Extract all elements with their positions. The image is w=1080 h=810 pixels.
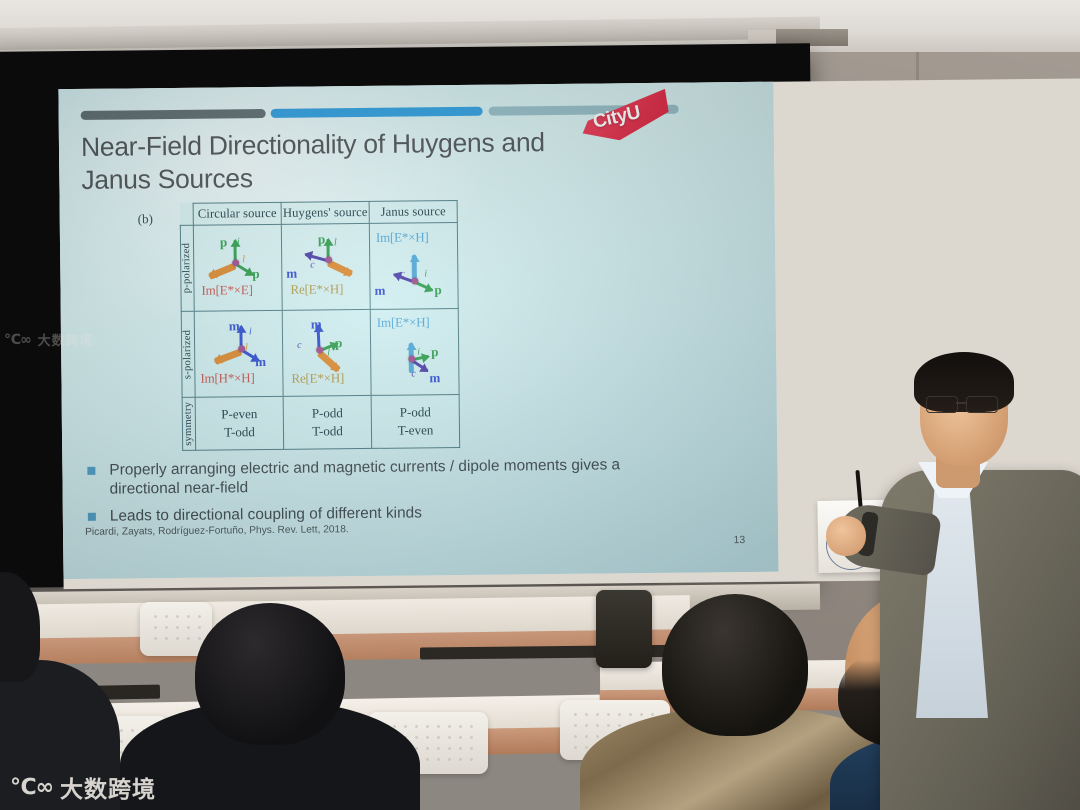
audience-member-head xyxy=(195,603,345,745)
vector-label-i: i xyxy=(249,326,252,337)
cell-formula: Re[E*×H] xyxy=(290,281,343,298)
vector-origin-node xyxy=(238,345,245,352)
figure-panel-label: (b) xyxy=(138,211,153,227)
cell-s-huygens: m c p l Re[E*×H] xyxy=(282,309,371,396)
cell-formula: Im[E*×E] xyxy=(201,282,252,299)
cell-symmetry-circular: P-even T-odd xyxy=(195,396,284,450)
cell-symmetry-janus: P-odd T-even xyxy=(371,395,460,449)
column-header-circular: Circular source xyxy=(193,202,281,225)
cell-p-janus: Im[E*×H] c i m p xyxy=(369,223,458,310)
column-header-janus: Janus source xyxy=(369,201,457,224)
slide-page-number: 13 xyxy=(733,534,745,546)
vector-origin-node xyxy=(316,346,323,353)
audience-member-body xyxy=(0,660,120,810)
vector-origin-node xyxy=(325,256,332,263)
cell-p-circular: p i l p Im[E*×E] xyxy=(193,224,282,311)
table-row-s-polarized: s-polarized m i l m Im xyxy=(181,309,459,398)
cell-symmetry-huygens: P-odd T-odd xyxy=(283,395,372,449)
vector-label-m: m xyxy=(429,370,440,386)
bullet-item-2: Leads to directional coupling of differe… xyxy=(83,500,683,526)
cell-formula: Re[E*×H] xyxy=(291,370,344,387)
cell-s-janus: Im[E*×H] i p c m xyxy=(370,309,459,396)
glasses-bridge xyxy=(956,402,966,404)
projection-screen: CityU Near-Field Directionality of Huyge… xyxy=(0,43,816,588)
cell-s-circular: m i l m Im[H*×H] xyxy=(194,310,283,397)
slide-title: Near-Field Directionality of Huygens and… xyxy=(81,125,612,197)
table-header-row: Circular source Huygens' source Janus so… xyxy=(180,201,457,226)
cell-p-huygens: p l m c Re[E*×H] xyxy=(281,223,370,310)
symmetry-line1: P-odd xyxy=(284,404,371,422)
vector-origin-node xyxy=(232,259,239,266)
symmetry-line2: T-even xyxy=(372,421,459,439)
table-row-symmetry: symmetry P-even T-odd P-odd T-odd xyxy=(182,395,460,451)
row-header-symmetry: symmetry xyxy=(182,397,196,450)
vector-label-l: l xyxy=(334,237,337,248)
table-row-p-polarized: p-polarized p i l p Im xyxy=(180,223,458,312)
accent-bar-segment-dark xyxy=(81,109,266,120)
accent-bar-segment-blue xyxy=(271,107,483,118)
symmetry-line1: P-odd xyxy=(372,403,459,421)
vector-label-i: i xyxy=(424,268,427,279)
vector-label-c: c xyxy=(310,259,315,270)
vector-origin-node xyxy=(408,355,415,362)
column-header-huygens: Huygens' source xyxy=(281,201,369,224)
figure-panel-b: (b) Circular source Huygens' source Janu… xyxy=(162,200,461,453)
vector-label-m: m xyxy=(286,265,297,281)
presentation-slide: CityU Near-Field Directionality of Huyge… xyxy=(58,82,778,579)
vector-label-p: p xyxy=(220,234,227,250)
symmetry-line2: T-odd xyxy=(284,422,371,440)
vector-label-m: m xyxy=(374,282,385,298)
vector-label-i: i xyxy=(417,346,420,357)
row-header-p-polarized: p-polarized xyxy=(180,225,194,311)
symmetry-line1: P-even xyxy=(196,405,283,423)
glasses-lens-left xyxy=(926,396,958,413)
bullet-item-1: Properly arranging electric and magnetic… xyxy=(82,455,682,500)
vector-label-l: l xyxy=(242,254,245,265)
row-header-s-polarized: s-polarized xyxy=(181,311,195,397)
glasses-lens-right xyxy=(966,396,998,413)
presenter-hand xyxy=(826,516,866,556)
cell-formula: Im[H*×H] xyxy=(200,370,254,387)
slide-bullet-list: Properly arranging electric and magnetic… xyxy=(82,455,683,533)
cell-formula: Im[E*×H] xyxy=(376,229,429,246)
vector-label-c: c xyxy=(411,368,416,379)
source-comparison-table: Circular source Huygens' source Janus so… xyxy=(180,200,461,451)
lecture-room-photo: CityU Near-Field Directionality of Huyge… xyxy=(0,0,1080,810)
corner-cell xyxy=(180,203,193,225)
cell-formula: Im[E*×H] xyxy=(377,314,430,331)
chair-dark xyxy=(596,590,652,668)
vector-label-p: p xyxy=(434,282,441,298)
vector-origin-node xyxy=(411,277,418,284)
vector-label-c: c xyxy=(297,339,302,350)
audience-member-head xyxy=(662,594,808,736)
slide-citation: Picardi, Zayats, Rodríguez-Fortuño, Phys… xyxy=(85,524,349,538)
presenter-glasses xyxy=(926,396,1004,411)
symmetry-line2: T-odd xyxy=(196,423,283,441)
vector-label-p: p xyxy=(431,344,438,360)
